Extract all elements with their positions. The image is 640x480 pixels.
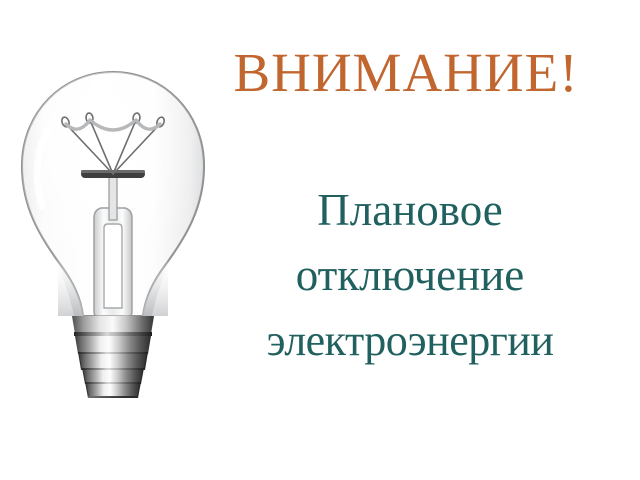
screw-base <box>72 316 154 398</box>
notice-message-line-1: Плановое <box>190 178 630 243</box>
page-title: ВНИМАНИЕ! <box>190 42 622 104</box>
notice-message: Плановое отключение электроэнергии <box>190 178 630 373</box>
poster-text-block: ВНИМАНИЕ! Плановое отключение электроэне… <box>190 0 640 480</box>
base-contact-tip <box>88 396 138 398</box>
poster-canvas: ВНИМАНИЕ! Плановое отключение электроэне… <box>0 0 640 480</box>
notice-message-line-2: отключение <box>190 243 630 308</box>
notice-message-line-3: электроэнергии <box>190 308 630 373</box>
light-bulb-illustration <box>8 58 218 398</box>
